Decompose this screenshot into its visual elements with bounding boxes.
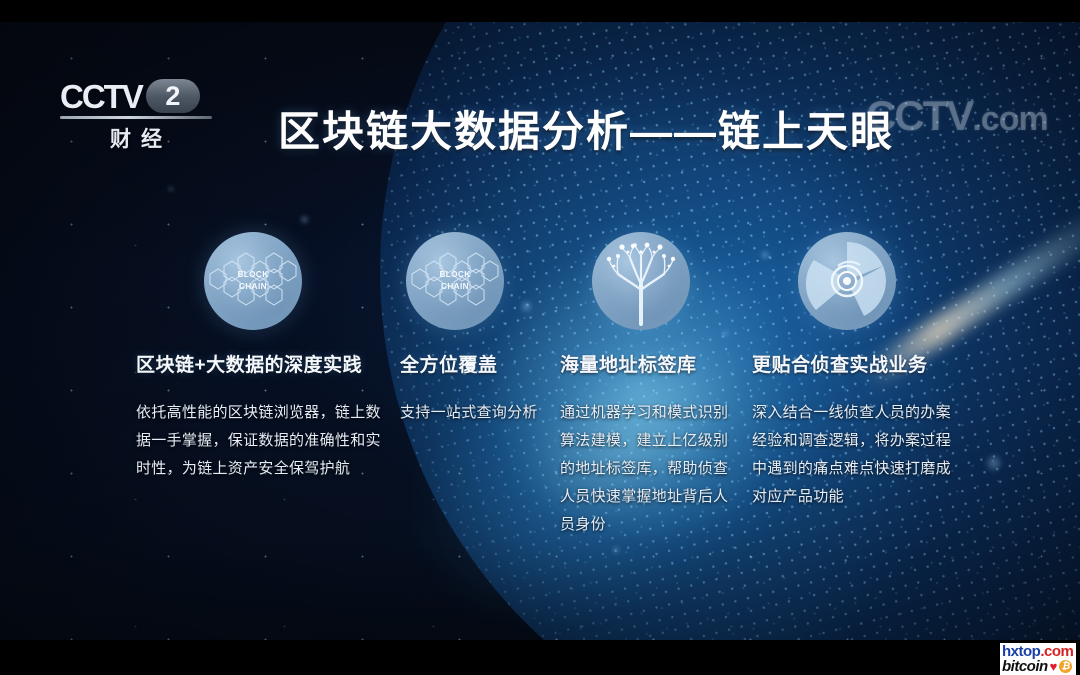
svg-text:BLOCK: BLOCK [439,270,470,279]
channel-subtitle: 财经 [60,123,212,153]
cctv-logo-underline [60,116,212,119]
bitcoin-icon: ₿ [1059,660,1072,673]
cctv-wordmark: CCTV [60,80,144,113]
feature-column: 更贴合侦查实战业务 深入结合一线侦查人员的办案经验和调查逻辑，将办案过程中遇到的… [752,232,952,511]
watermark-site: hxtop.com [1000,643,1076,659]
heart-icon: ♥ [1050,660,1058,673]
data-tree-icon [592,232,690,330]
feature-heading: 海量地址标签库 [560,350,738,377]
page-title: 区块链大数据分析——链上天眼 [278,98,894,159]
watermark-brand-row: bitcoin ♥ ₿ [1000,659,1076,675]
blockchain-hexagon-icon: BLOCK CHAIN [406,232,504,330]
feature-column: 海量地址标签库 通过机器学习和模式识别算法建模，建立上亿级别的地址标签库，帮助侦… [560,232,738,539]
svg-text:BLOCK: BLOCK [237,270,268,279]
cctv2-channel-logo: CCTV 2 财经 [60,78,220,153]
aperture-eye-icon [798,232,896,330]
feature-body: 通过机器学习和模式识别算法建模，建立上亿级别的地址标签库，帮助侦查人员快速掌握地… [560,399,738,539]
letterbox-top [0,0,1080,22]
feature-body: 依托高性能的区块链浏览器，链上数据一手掌握，保证数据的准确性和实时性，为链上资产… [136,399,384,483]
blockchain-hexagon-icon: BLOCK CHAIN [204,232,302,330]
broadcast-frame: CCTV 2 财经 CCTV.com 区块链大数据分析——链上天眼 [0,0,1080,675]
channel-number-badge: 2 [146,79,200,113]
letterbox-bottom [0,640,1080,675]
feature-heading: 更贴合侦查实战业务 [752,350,952,377]
feature-column: BLOCK CHAIN 区块链+大数据的深度实践 依托高性能的区块链浏览器，链上… [136,232,384,483]
cctv-logo-row: CCTV 2 [60,78,220,114]
site-watermark: hxtop.com bitcoin ♥ ₿ [1000,643,1076,675]
svg-text:CHAIN: CHAIN [239,282,267,291]
feature-column: BLOCK CHAIN 全方位覆盖 支持一站式查询分析 [400,232,545,427]
feature-heading: 全方位覆盖 [400,350,545,377]
svg-text:CHAIN: CHAIN [441,282,469,291]
channel-number: 2 [165,83,180,110]
feature-body: 支持一站式查询分析 [400,399,545,427]
watermark-brand: bitcoin [1002,659,1048,674]
feature-heading: 区块链+大数据的深度实践 [136,350,384,377]
feature-body: 深入结合一线侦查人员的办案经验和调查逻辑，将办案过程中遇到的痛点难点快速打磨成对… [752,399,952,511]
